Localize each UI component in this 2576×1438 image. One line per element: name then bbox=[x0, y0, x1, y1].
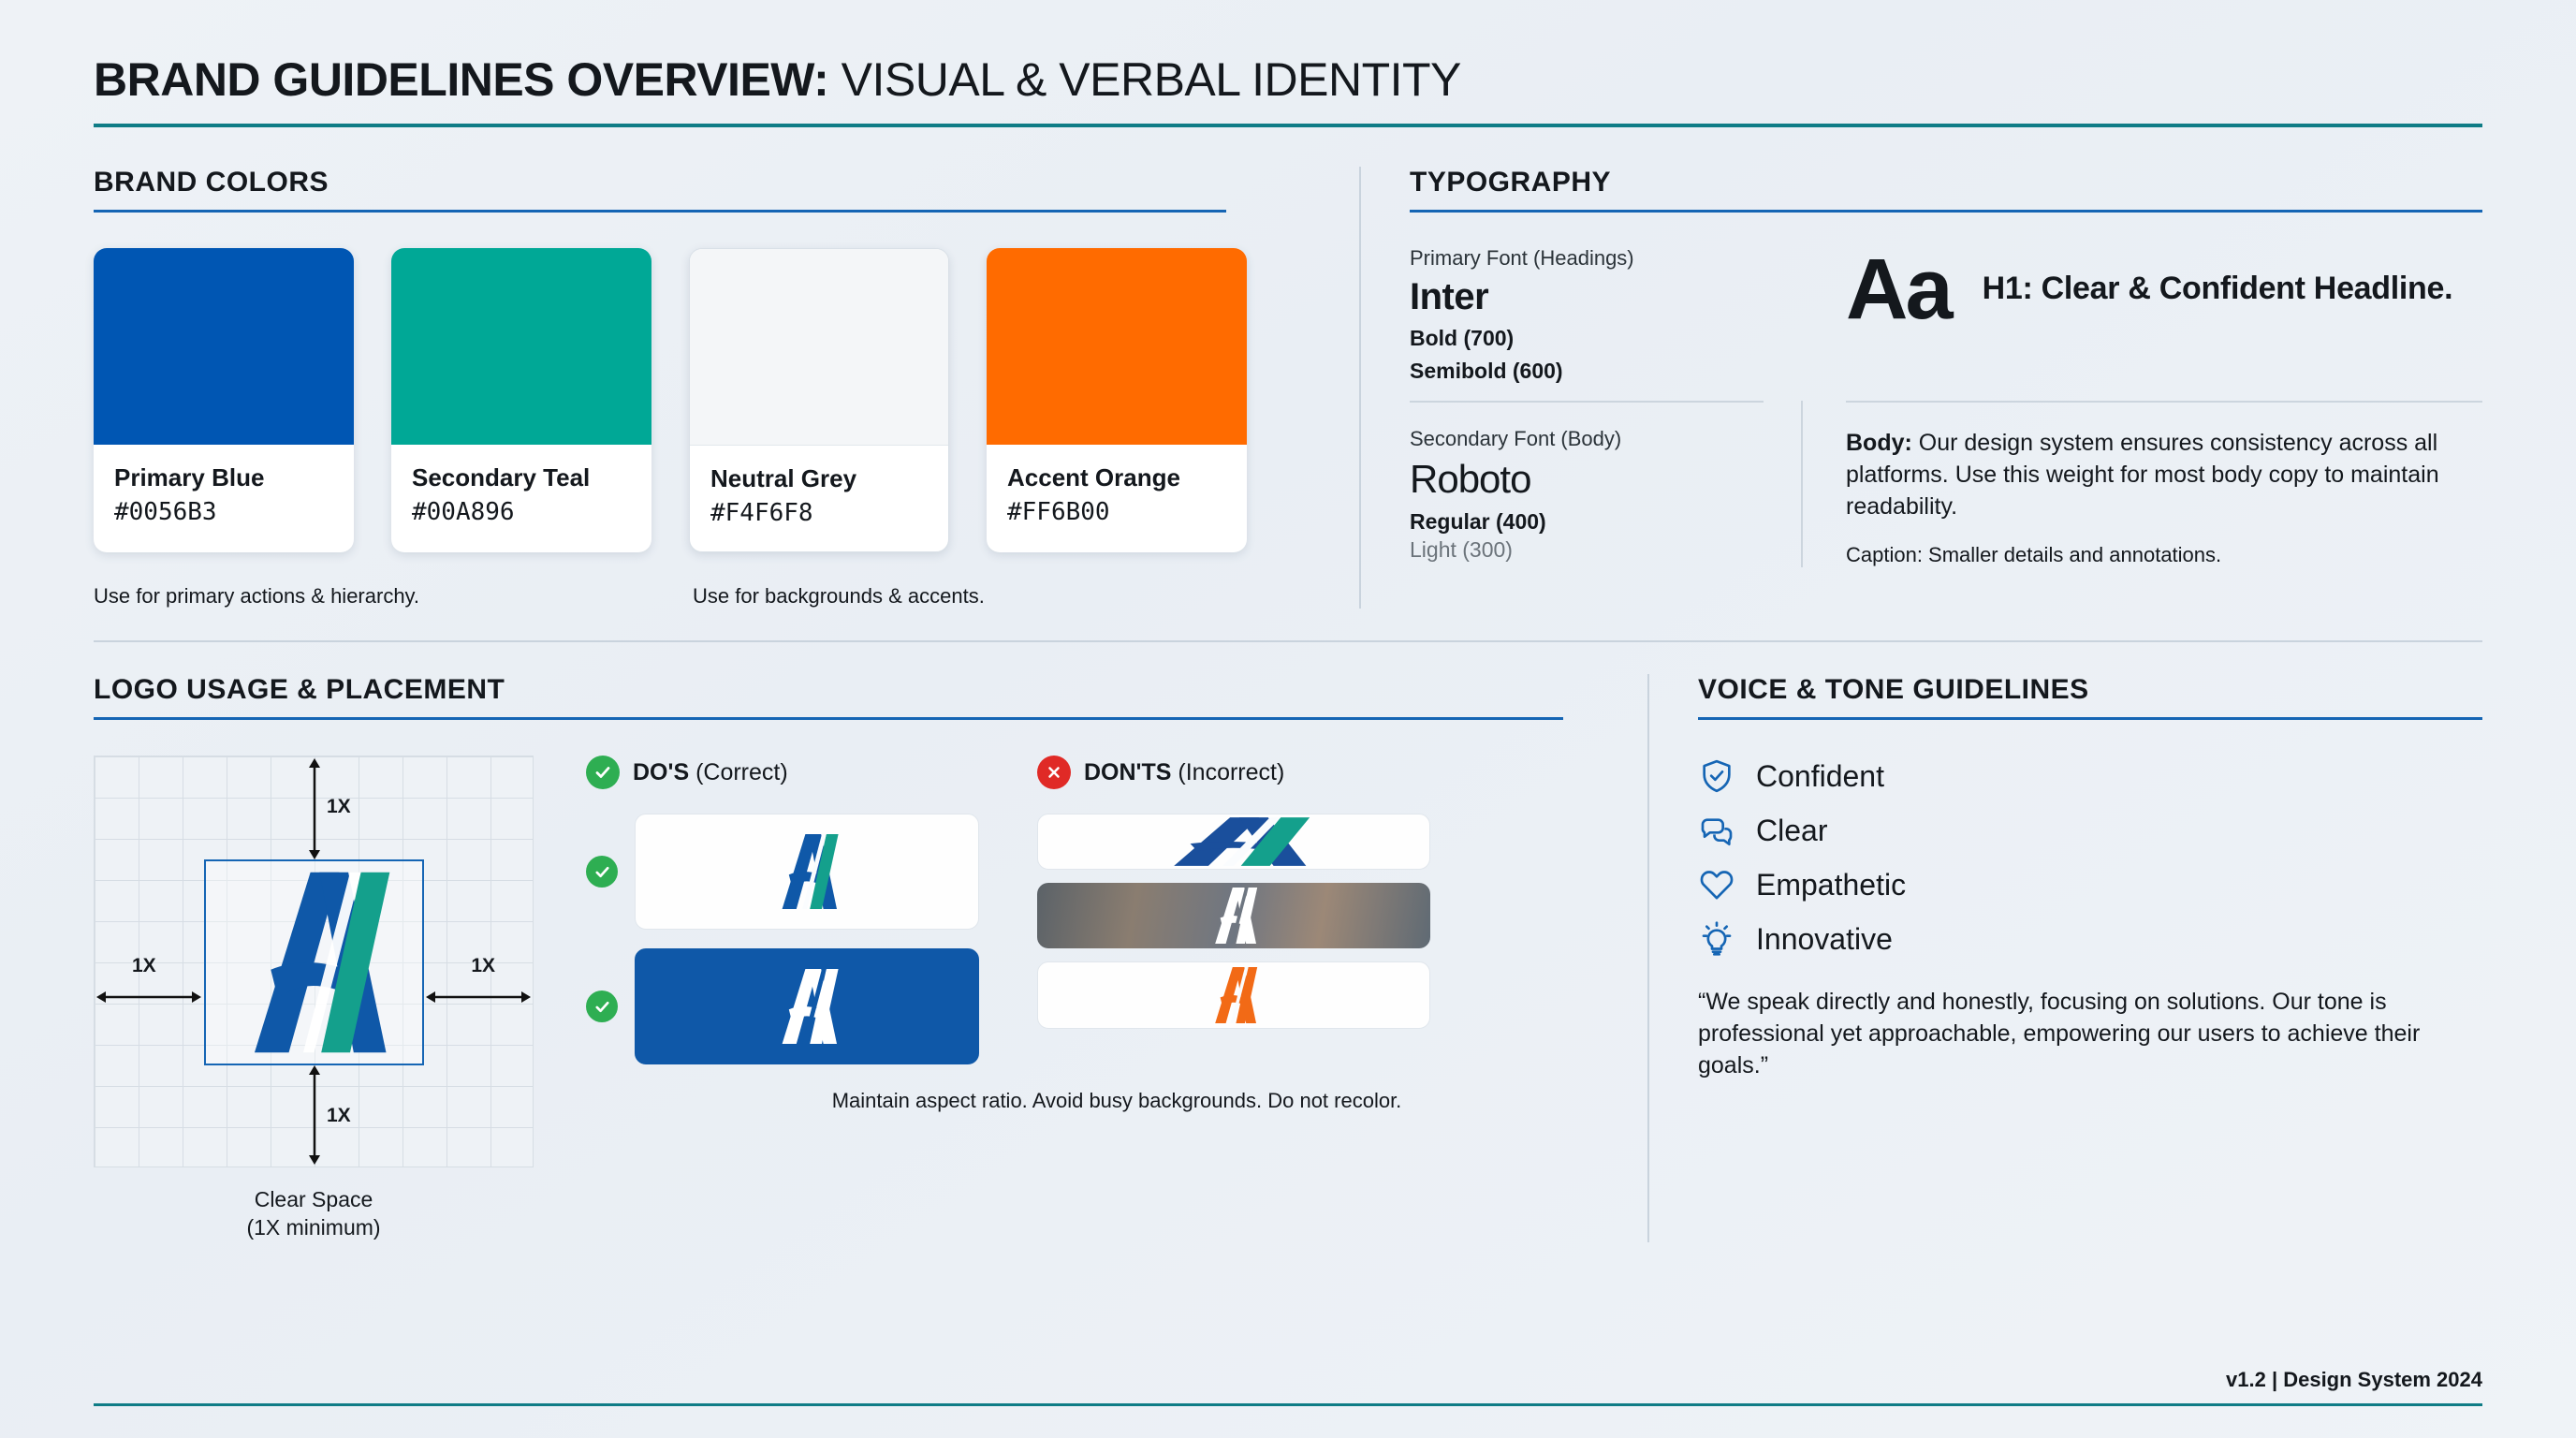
swatch-hex: #FF6B00 bbox=[1007, 498, 1226, 526]
check-circle-icon bbox=[586, 990, 618, 1022]
secondary-font-label: Secondary Font (Body) bbox=[1410, 427, 1764, 451]
donts-title-bold: DON'TS bbox=[1084, 759, 1171, 785]
body-divider bbox=[1846, 401, 2482, 403]
brand-logo-mark-distorted bbox=[1125, 814, 1342, 869]
do-dont-columns: DO'S (Correct) bbox=[586, 756, 1647, 1064]
dos-title-rest: (Correct) bbox=[689, 759, 788, 785]
vertical-divider bbox=[1359, 167, 1361, 609]
logo-usage-heading: LOGO USAGE & PLACEMENT bbox=[94, 674, 1647, 706]
donts-column: DON'TS (Incorrect) bbox=[1037, 756, 1430, 1064]
brand-colors-heading: BRAND COLORS bbox=[94, 167, 1310, 198]
primary-font-weight-bold: Bold (700) bbox=[1410, 326, 1803, 351]
logo-example-correct-reversed[interactable] bbox=[635, 948, 979, 1064]
clear-space-label-right: 1X bbox=[471, 955, 495, 977]
heart-icon bbox=[1698, 866, 1735, 903]
swatch-meta: Secondary Teal #00A896 bbox=[391, 445, 651, 550]
secondary-font-weight-light: Light (300) bbox=[1410, 537, 1764, 563]
voice-attribute-label: Confident bbox=[1756, 759, 1884, 794]
dos-title: DO'S (Correct) bbox=[633, 759, 788, 786]
brand-logo-mark-recolored bbox=[1200, 962, 1267, 1028]
swatch-name: Primary Blue bbox=[114, 463, 333, 492]
swatch-chip bbox=[391, 248, 651, 445]
swatch-name: Neutral Grey bbox=[710, 464, 928, 493]
body-sample-copy: Our design system ensures consistency ac… bbox=[1846, 430, 2439, 520]
dos-cards bbox=[586, 814, 979, 1064]
check-circle-icon bbox=[586, 856, 618, 888]
upper-region: BRAND COLORS Primary Blue #0056B3 Second… bbox=[94, 167, 2482, 609]
chat-bubbles-icon bbox=[1698, 812, 1735, 849]
secondary-font-row: Secondary Font (Body) Roboto Regular (40… bbox=[1410, 401, 2482, 567]
footer-version: v1.2 | Design System 2024 bbox=[94, 1368, 2482, 1392]
voice-tone-section: VOICE & TONE GUIDELINES Confident Clear bbox=[1649, 674, 2482, 1242]
caption-sample-text: Caption: Smaller details and annotations… bbox=[1846, 543, 2482, 567]
brand-colors-rule bbox=[94, 210, 1226, 213]
clear-space-label-left: 1X bbox=[132, 955, 156, 977]
page-header: BRAND GUIDELINES OVERVIEW: VISUAL & VERB… bbox=[94, 52, 2482, 127]
clear-space-diagram: 1X 1X bbox=[94, 756, 534, 1242]
donts-title-rest: (Incorrect) bbox=[1171, 759, 1284, 785]
color-usage-note-primary: Use for primary actions & hierarchy. bbox=[94, 584, 693, 609]
color-swatch[interactable]: Accent Orange #FF6B00 bbox=[987, 248, 1247, 552]
logo-usage-body: 1X 1X bbox=[94, 756, 1647, 1242]
primary-font-weight-semibold: Semibold (600) bbox=[1410, 359, 1803, 384]
clear-space-arrow-right bbox=[426, 990, 531, 1004]
logo-usage-section: LOGO USAGE & PLACEMENT bbox=[94, 674, 1647, 1242]
voice-attribute-label: Clear bbox=[1756, 814, 1827, 848]
voice-attribute-label: Empathetic bbox=[1756, 868, 1906, 902]
clear-space-arrow-top bbox=[308, 758, 321, 859]
typography-heading: TYPOGRAPHY bbox=[1410, 167, 2482, 198]
page-footer: v1.2 | Design System 2024 bbox=[94, 1368, 2482, 1406]
swatch-hex: #0056B3 bbox=[114, 498, 333, 526]
voice-tone-heading: VOICE & TONE GUIDELINES bbox=[1698, 674, 2482, 706]
typography-section: TYPOGRAPHY Primary Font (Headings) Inter… bbox=[1410, 167, 2482, 609]
brand-logo-mark bbox=[762, 829, 852, 915]
donts-header: DON'TS (Incorrect) bbox=[1037, 756, 1430, 789]
specimen-row: Aa H1: Clear & Confident Headline. bbox=[1846, 246, 2482, 332]
body-specimen: Body: Our design system ensures consiste… bbox=[1803, 401, 2482, 567]
voice-attribute-list: Confident Clear Empathetic bbox=[1698, 757, 2482, 958]
page-title-light: VISUAL & VERBAL IDENTITY bbox=[828, 53, 1461, 106]
swatch-name: Accent Orange bbox=[1007, 463, 1226, 492]
logo-example-incorrect-stretched[interactable] bbox=[1037, 814, 1430, 870]
header-rule bbox=[94, 124, 2482, 127]
secondary-font-specs: Secondary Font (Body) Roboto Regular (40… bbox=[1410, 401, 1803, 567]
primary-font-label: Primary Font (Headings) bbox=[1410, 246, 1803, 271]
voice-attribute: Empathetic bbox=[1698, 866, 2482, 903]
swatch-hex: #00A896 bbox=[412, 498, 631, 526]
swatch-meta: Neutral Grey #F4F6F8 bbox=[690, 446, 948, 551]
arrow-vertical-icon bbox=[308, 1065, 321, 1165]
voice-attribute: Clear bbox=[1698, 812, 2482, 849]
clear-space-caption-line1: Clear Space bbox=[94, 1186, 534, 1214]
swatch-hex: #F4F6F8 bbox=[710, 499, 928, 527]
body-sample-text: Body: Our design system ensures consiste… bbox=[1846, 427, 2482, 522]
primary-font-specs: Primary Font (Headings) Inter Bold (700)… bbox=[1410, 246, 1803, 384]
page-title-bold: BRAND GUIDELINES OVERVIEW: bbox=[94, 53, 828, 106]
logo-bounding-box bbox=[204, 859, 424, 1065]
logo-usage-note: Maintain aspect ratio. Avoid busy backgr… bbox=[586, 1089, 1647, 1113]
typography-divider bbox=[1410, 401, 1764, 403]
page-title: BRAND GUIDELINES OVERVIEW: VISUAL & VERB… bbox=[94, 52, 2482, 107]
do-dont-region: DO'S (Correct) bbox=[586, 756, 1647, 1242]
brand-logo-mark-on-photo bbox=[1200, 883, 1267, 948]
logo-example-correct-light[interactable] bbox=[635, 814, 979, 930]
voice-tone-rule bbox=[1698, 717, 2482, 720]
arrow-horizontal-icon bbox=[426, 990, 531, 1004]
donts-cards bbox=[1037, 814, 1430, 1029]
swatch-name: Secondary Teal bbox=[412, 463, 631, 492]
secondary-font-weight-regular: Regular (400) bbox=[1410, 509, 1764, 535]
secondary-font-name: Roboto bbox=[1410, 457, 1764, 502]
voice-attribute-label: Innovative bbox=[1756, 922, 1893, 957]
brand-logo-mark bbox=[206, 861, 422, 1064]
h1-sample-text: H1: Clear & Confident Headline. bbox=[1983, 269, 2453, 310]
infographic-page: BRAND GUIDELINES OVERVIEW: VISUAL & VERB… bbox=[0, 0, 2576, 1438]
color-usage-notes: Use for primary actions & hierarchy. Use… bbox=[94, 584, 1310, 609]
swatch-meta: Accent Orange #FF6B00 bbox=[987, 445, 1247, 550]
close-circle-icon bbox=[1037, 756, 1071, 789]
clear-space-grid: 1X 1X bbox=[94, 756, 534, 1167]
dos-column: DO'S (Correct) bbox=[586, 756, 979, 1064]
voice-attribute: Innovative bbox=[1698, 920, 2482, 958]
primary-font-specimen: Aa H1: Clear & Confident Headline. bbox=[1803, 246, 2482, 384]
color-swatch-list: Primary Blue #0056B3 Secondary Teal #00A… bbox=[94, 248, 1310, 552]
logo-example-incorrect-recolored[interactable] bbox=[1037, 961, 1430, 1029]
lower-region: LOGO USAGE & PLACEMENT bbox=[94, 674, 2482, 1242]
typography-rule bbox=[1410, 210, 2482, 213]
primary-font-name: Inter bbox=[1410, 276, 1803, 318]
primary-font-row: Primary Font (Headings) Inter Bold (700)… bbox=[1410, 246, 2482, 384]
swatch-meta: Primary Blue #0056B3 bbox=[94, 445, 354, 550]
logo-example-incorrect-busy-background[interactable] bbox=[1037, 883, 1430, 948]
brand-colors-section: BRAND COLORS Primary Blue #0056B3 Second… bbox=[94, 167, 1310, 609]
mid-divider bbox=[94, 640, 2482, 642]
clear-space-label-top: 1X bbox=[327, 796, 351, 818]
voice-tone-quote: “We speak directly and honestly, focusin… bbox=[1698, 986, 2482, 1081]
body-sample-label: Body: bbox=[1846, 430, 1912, 456]
color-swatch[interactable]: Secondary Teal #00A896 bbox=[391, 248, 651, 552]
check-circle-icon bbox=[586, 756, 620, 789]
footer-rule bbox=[94, 1403, 2482, 1406]
specimen-glyph: Aa bbox=[1846, 246, 1951, 332]
swatch-chip bbox=[987, 248, 1247, 445]
clear-space-caption-line2: (1X minimum) bbox=[94, 1214, 534, 1242]
clear-space-arrow-bottom bbox=[308, 1065, 321, 1165]
dos-row bbox=[586, 814, 979, 930]
clear-space-label-bottom: 1X bbox=[327, 1105, 351, 1127]
dos-title-bold: DO'S bbox=[633, 759, 689, 785]
color-swatch[interactable]: Neutral Grey #F4F6F8 bbox=[689, 248, 949, 552]
arrow-vertical-icon bbox=[308, 758, 321, 859]
logo-usage-rule bbox=[94, 717, 1563, 720]
swatch-chip bbox=[690, 249, 948, 446]
arrow-horizontal-icon bbox=[96, 990, 201, 1004]
voice-attribute: Confident bbox=[1698, 757, 2482, 795]
dos-header: DO'S (Correct) bbox=[586, 756, 979, 789]
lightbulb-icon bbox=[1698, 920, 1735, 958]
color-swatch[interactable]: Primary Blue #0056B3 bbox=[94, 248, 354, 552]
clear-space-caption: Clear Space (1X minimum) bbox=[94, 1186, 534, 1242]
swatch-chip bbox=[94, 248, 354, 445]
color-usage-note-secondary: Use for backgrounds & accents. bbox=[693, 584, 985, 609]
brand-logo-mark-reversed bbox=[762, 963, 852, 1049]
clear-space-arrow-left bbox=[96, 990, 201, 1004]
donts-title: DON'TS (Incorrect) bbox=[1084, 759, 1284, 786]
shield-check-icon bbox=[1698, 757, 1735, 795]
dos-row bbox=[586, 948, 979, 1064]
